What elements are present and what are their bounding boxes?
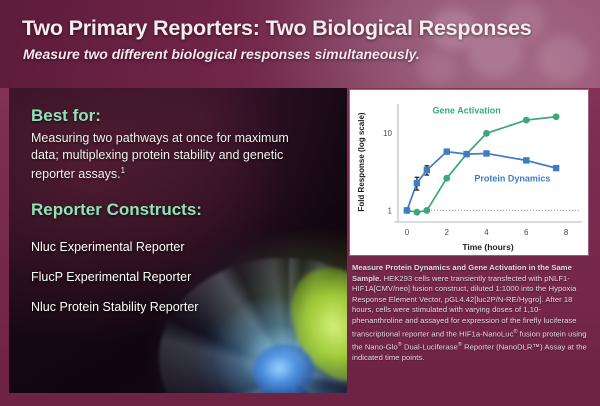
- y-tick-label: 1: [388, 207, 393, 216]
- data-point: [413, 209, 420, 216]
- x-tick-label: 2: [445, 228, 450, 237]
- infographic-page: Two Primary Reporters: Two Biological Re…: [0, 0, 600, 406]
- page-title: Two Primary Reporters: Two Biological Re…: [22, 16, 532, 41]
- x-tick-label: 6: [524, 228, 529, 237]
- x-tick-label: 8: [564, 228, 569, 237]
- line-chart: 110Fold Response (log scale)02468Time (h…: [350, 90, 588, 255]
- caption-body-3: Dual-Luciferase: [402, 342, 458, 351]
- series-label-0: Gene Activation: [433, 106, 501, 116]
- blue-protein-structure-image: [253, 344, 315, 393]
- data-point: [483, 130, 490, 137]
- x-tick-label: 4: [484, 228, 489, 237]
- chart-container: 110Fold Response (log scale)02468Time (h…: [350, 90, 588, 255]
- decor-blob: [538, 36, 588, 82]
- data-point: [553, 165, 559, 171]
- best-for-heading: Best for:: [31, 106, 101, 126]
- x-axis-title: Time (hours): [462, 242, 513, 252]
- series-line-0: [407, 117, 556, 212]
- y-tick-label: 10: [383, 129, 392, 138]
- list-item: Nluc Experimental Reporter: [31, 240, 231, 255]
- data-point: [414, 180, 420, 186]
- data-point: [463, 151, 469, 157]
- data-point: [553, 113, 560, 120]
- page-subtitle: Measure two different biological respons…: [23, 46, 420, 62]
- list-item: FlucP Experimental Reporter: [31, 270, 231, 285]
- right-column: 110Fold Response (log scale)02468Time (h…: [350, 90, 592, 255]
- list-item: Nluc Protein Stability Reporter: [31, 300, 231, 315]
- green-protein-structure-image: [279, 256, 347, 393]
- data-point: [404, 207, 410, 213]
- reporter-constructs-heading: Reporter Constructs:: [31, 200, 202, 220]
- footnote-marker: 1: [121, 166, 125, 175]
- best-for-body-text: Measuring two pathways at once for maxim…: [31, 131, 289, 181]
- x-tick-label: 0: [405, 228, 410, 237]
- best-for-body: Measuring two pathways at once for maxim…: [31, 130, 316, 183]
- y-axis-title: Fold Response (log scale): [357, 112, 366, 211]
- data-point: [424, 167, 430, 173]
- series-label-1: Protein Dynamics: [474, 174, 550, 184]
- left-content-panel: Best for: Measuring two pathways at once…: [9, 88, 347, 393]
- data-point: [444, 148, 450, 154]
- data-point: [443, 175, 450, 182]
- data-point: [483, 150, 489, 156]
- data-point: [523, 117, 530, 124]
- data-point: [523, 157, 529, 163]
- decor-blob: [418, 52, 456, 86]
- header-banner: Two Primary Reporters: Two Biological Re…: [0, 0, 600, 88]
- figure-caption: Measure Protein Dynamics and Gene Activa…: [352, 263, 589, 363]
- data-point: [423, 207, 430, 214]
